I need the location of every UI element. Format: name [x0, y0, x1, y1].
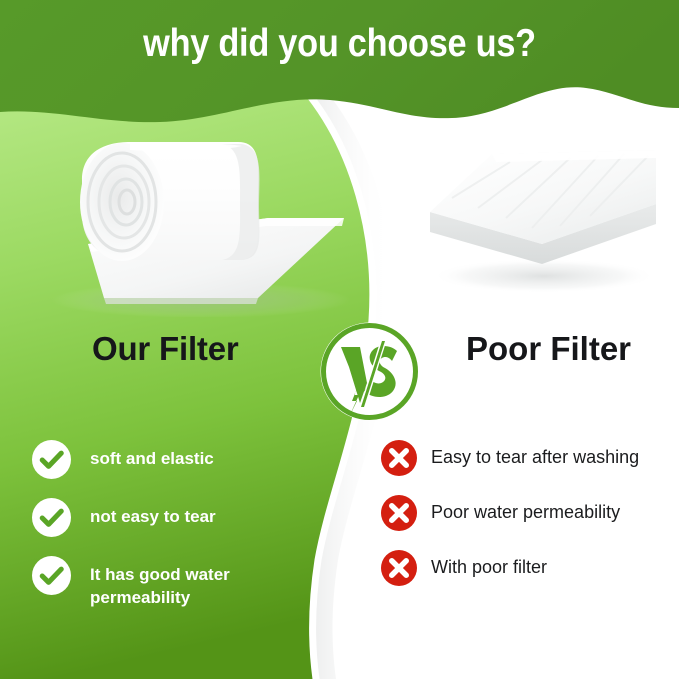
cross-circle-icon — [381, 550, 417, 586]
right-feature-list: Easy to tear after washing Poor water pe… — [381, 440, 671, 586]
filter-roll-image — [26, 132, 356, 317]
list-item: It has good water permeability — [32, 556, 302, 609]
cross-circle-icon — [381, 495, 417, 531]
list-item-label: With poor filter — [431, 550, 547, 579]
cross-circle-icon — [381, 440, 417, 476]
list-item: Poor water permeability — [381, 495, 671, 531]
list-item: Easy to tear after washing — [381, 440, 671, 476]
list-item-label: soft and elastic — [90, 440, 214, 470]
check-circle-icon — [32, 498, 71, 537]
comparison-infographic: why did you choose us? — [0, 0, 679, 679]
right-panel-heading: Poor Filter — [466, 330, 631, 368]
list-item-label: not easy to tear — [90, 498, 216, 528]
list-item-label: Poor water permeability — [431, 495, 620, 524]
check-circle-icon — [32, 440, 71, 479]
list-item: not easy to tear — [32, 498, 302, 537]
filter-pad-image — [418, 136, 664, 298]
list-item-label: Easy to tear after washing — [431, 440, 639, 469]
left-panel-heading: Our Filter — [92, 330, 239, 368]
versus-badge — [319, 321, 420, 422]
list-item-label: It has good water permeability — [90, 556, 302, 609]
left-feature-list: soft and elastic not easy to tear It has… — [32, 440, 302, 609]
check-circle-icon — [32, 556, 71, 595]
list-item: With poor filter — [381, 550, 671, 586]
list-item: soft and elastic — [32, 440, 302, 479]
page-title: why did you choose us? — [41, 22, 639, 66]
